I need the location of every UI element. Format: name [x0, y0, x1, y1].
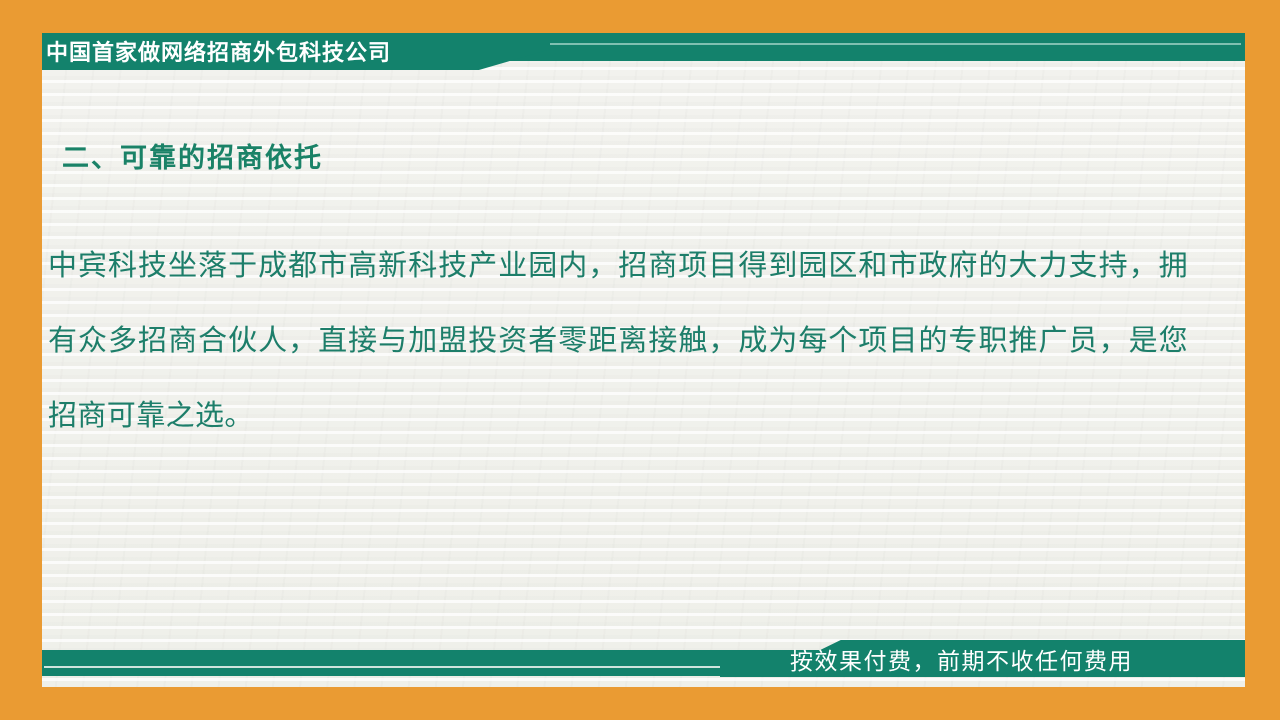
body-text-block: 中宾科技坐落于成都市高新科技产业园内，招商项目得到园区和市政府的大力支持，拥有众… [48, 228, 1188, 453]
footer-tagline: 按效果付费，前期不收任何费用 [790, 641, 1230, 676]
presentation-slide: 中国首家做网络招商外包科技公司 二、可靠的招商依托 中宾科技坐落于成都市高新科技… [0, 0, 1280, 720]
footer-banner-hairline [44, 666, 749, 668]
section-heading: 二、可靠的招商依托 [62, 136, 323, 175]
header-title: 中国首家做网络招商外包科技公司 [43, 35, 513, 67]
header-banner-hairline [494, 43, 1241, 45]
body-paragraph: 中宾科技坐落于成都市高新科技产业园内，招商项目得到园区和市政府的大力支持，拥有众… [48, 228, 1188, 453]
